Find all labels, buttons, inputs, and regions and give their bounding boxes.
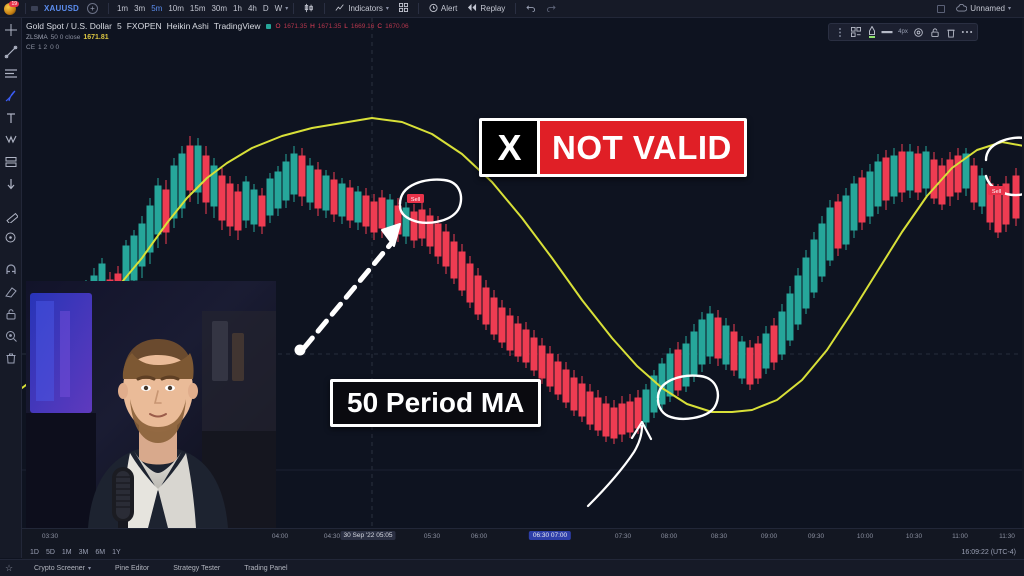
tab-strategy-tester[interactable]: Strategy Tester <box>161 565 232 572</box>
legend-indicator-zlsma[interactable]: ZLSMA 50 0 close 1671.81 <box>26 34 409 41</box>
range-6m[interactable]: 6M <box>95 549 105 556</box>
timeframe-3m[interactable]: 3m <box>131 4 148 13</box>
favorite-star-icon[interactable]: ☆ <box>5 563 13 574</box>
tradingview-app: 19 XAUUSD + 1m 3m 5m 10m 15m 30m 1h 4h D… <box>0 0 1024 576</box>
grid-templates-icon <box>399 3 408 14</box>
divider <box>108 3 109 14</box>
templates-button[interactable] <box>394 3 413 14</box>
time-tick: 04:00 <box>272 533 288 540</box>
bottom-panel-tabs: Crypto Screener ▾ Pine Editor Strategy T… <box>0 559 1024 576</box>
dashed-arrow-line <box>304 240 394 348</box>
topbar-right-group: Unnamed ▾ <box>937 4 1024 14</box>
time-tick-selected-range[interactable]: 06:30 07:00 <box>529 531 571 540</box>
trash-icon[interactable] <box>3 350 19 366</box>
legend-exchange: FXOPEN <box>127 21 162 31</box>
ohlc-low-value: 1669.16 <box>351 23 375 30</box>
legend-indicator-ce[interactable]: CE 1 2 0 0 <box>26 44 409 51</box>
svg-text:Sell: Sell <box>992 189 1001 195</box>
delete-trash-icon[interactable] <box>943 25 958 40</box>
time-tick: 09:00 <box>761 533 777 540</box>
time-tick: 05:30 <box>424 533 440 540</box>
legend-source: TradingView <box>214 21 261 31</box>
timeframe-4h[interactable]: 4h <box>245 4 260 13</box>
legend-main-row: Gold Spot / U.S. Dollar 5 FXOPEN Heikin … <box>26 21 409 31</box>
not-valid-banner: X NOT VALID <box>479 118 747 177</box>
range-1m[interactable]: 1M <box>62 549 72 556</box>
replay-label: Replay <box>480 4 505 13</box>
time-tick: 10:30 <box>906 533 922 540</box>
drawing-tools-rail <box>0 18 22 558</box>
indicator-params: 50 0 close <box>51 34 81 41</box>
timeframe-1m[interactable]: 1m <box>114 4 131 13</box>
ma-label-banner: 50 Period MA <box>330 379 541 427</box>
drag-handle-icon[interactable] <box>832 25 847 40</box>
legend-candle-type: Heikin Ashi <box>167 21 209 31</box>
chart-clock[interactable]: 16:09:22 (UTC-4) <box>962 549 1024 556</box>
opacity-label[interactable]: 4px <box>896 25 910 40</box>
range-buttons-row: 1D 5D 1M 3M 6M 1Y 16:09:22 (UTC-4) <box>22 545 1024 559</box>
app-logo[interactable]: 19 <box>0 0 20 18</box>
timeframe-10m[interactable]: 10m <box>165 4 187 13</box>
tab-label: Trading Panel <box>244 565 287 572</box>
chart-type-button[interactable] <box>299 3 319 15</box>
time-tick: 04:30 <box>324 533 340 540</box>
settings-gear-icon[interactable] <box>911 25 926 40</box>
tab-label: Pine Editor <box>115 565 149 572</box>
arrow-down-icon[interactable] <box>3 176 19 192</box>
redo-button[interactable] <box>541 4 561 14</box>
market-status-indicator <box>266 24 271 29</box>
measure-ruler-icon[interactable] <box>3 208 19 224</box>
layout-checkbox[interactable] <box>937 5 945 13</box>
indicator-params: 1 2 <box>38 44 47 51</box>
time-tick: 09:30 <box>808 533 824 540</box>
indicators-label: Indicators <box>348 4 383 13</box>
dashed-arrow-tail-dot <box>295 345 306 356</box>
timeframe-w[interactable]: W <box>272 4 286 13</box>
time-tick-date-boxed: 30 Sep '22 05:05 <box>341 531 396 540</box>
divider <box>418 3 419 14</box>
symbol-search[interactable]: XAUUSD <box>41 4 82 13</box>
legend-interval[interactable]: 5 <box>117 21 122 31</box>
timeframe-30m[interactable]: 30m <box>208 4 230 13</box>
divider <box>25 3 26 14</box>
indicator-name: CE <box>26 44 35 51</box>
not-valid-text: NOT VALID <box>540 121 744 174</box>
alert-label: Alert <box>441 4 457 13</box>
tab-crypto-screener[interactable]: Crypto Screener ▾ <box>22 565 103 572</box>
ohlc-open-key: O <box>276 23 281 30</box>
eraser-icon[interactable] <box>3 284 19 300</box>
time-tick: 03:30 <box>42 533 58 540</box>
add-symbol-button[interactable]: + <box>87 3 98 14</box>
handdrawn-annotations <box>295 138 1024 506</box>
time-tick: 06:00 <box>471 533 487 540</box>
ohlc-close-value: 1670.06 <box>385 23 409 30</box>
range-1d[interactable]: 1D <box>30 549 39 556</box>
pen-color-icon[interactable] <box>864 25 879 40</box>
legend-ohlc: O 1671.35 H 1671.35 L 1669.16 C 1670.06 <box>276 23 409 30</box>
alert-button[interactable]: Alert <box>424 3 462 14</box>
ohlc-high-value: 1671.35 <box>318 23 342 30</box>
cursor-crosshair-icon[interactable] <box>3 22 19 38</box>
notification-badge[interactable]: 19 <box>9 1 19 7</box>
time-tick: 08:00 <box>661 533 677 540</box>
save-layout-button[interactable]: Unnamed ▾ <box>951 4 1016 14</box>
divider <box>324 3 325 14</box>
presenter-webcam-overlay <box>26 281 276 528</box>
undo-button[interactable] <box>521 4 541 14</box>
time-axis[interactable]: 03:30 04:00 04:30 30 Sep '22 05:05 05:30… <box>22 528 1024 545</box>
indicators-icon <box>335 3 345 15</box>
indicators-button[interactable]: Indicators ▾ <box>330 3 394 15</box>
timeframe-chevron-down-icon[interactable]: ▾ <box>285 5 288 12</box>
indicators-chevron-down-icon[interactable]: ▾ <box>386 5 389 12</box>
replay-icon <box>467 3 477 14</box>
indicator-value: 1671.81 <box>83 34 108 41</box>
tab-pine-editor[interactable]: Pine Editor <box>103 565 161 572</box>
chart-legend: Gold Spot / U.S. Dollar 5 FXOPEN Heikin … <box>26 21 409 51</box>
tab-label: Strategy Tester <box>173 565 220 572</box>
replay-button[interactable]: Replay <box>462 3 510 14</box>
unlock-icon[interactable] <box>927 25 942 40</box>
range-3m[interactable]: 3M <box>79 549 89 556</box>
more-dots-icon[interactable] <box>959 25 974 40</box>
pitchfork-icon[interactable] <box>3 88 19 104</box>
range-5d[interactable]: 5D <box>46 549 55 556</box>
magnet-icon[interactable] <box>3 262 19 278</box>
undo-arrow-icon <box>526 4 536 14</box>
ohlc-open-value: 1671.35 <box>284 23 308 30</box>
candles-icon <box>304 3 314 15</box>
zoom-in-icon[interactable] <box>3 230 19 246</box>
horizontal-lines-icon[interactable] <box>3 66 19 82</box>
webcam-frame <box>26 281 276 528</box>
ohlc-low-key: L <box>344 23 348 30</box>
timeframe-1h[interactable]: 1h <box>230 4 245 13</box>
ohlc-close-key: C <box>377 23 382 30</box>
range-1y[interactable]: 1Y <box>112 549 121 556</box>
layout-name[interactable]: Unnamed <box>970 4 1005 13</box>
redo-arrow-icon <box>546 4 556 14</box>
divider <box>293 3 294 14</box>
time-tick: 11:30 <box>999 533 1015 540</box>
indicator-values: 0 0 <box>50 44 59 51</box>
time-tick: 07:30 <box>615 533 631 540</box>
timeframe-15m[interactable]: 15m <box>187 4 209 13</box>
timeframe-5m[interactable]: 5m <box>148 4 165 13</box>
hide-eye-icon[interactable] <box>3 328 19 344</box>
templates-icon[interactable] <box>848 25 863 40</box>
line-width-icon[interactable] <box>880 25 895 40</box>
trend-line-icon[interactable] <box>3 44 19 60</box>
lock-icon[interactable] <box>3 306 19 322</box>
floating-drawing-toolbar: 4px <box>828 23 978 41</box>
not-valid-x-mark: X <box>482 121 540 174</box>
layout-chevron-down-icon[interactable]: ▾ <box>1008 5 1011 12</box>
ohlc-high-key: H <box>310 23 315 30</box>
tab-label: Crypto Screener <box>34 565 85 572</box>
shapes-icon[interactable] <box>3 154 19 170</box>
top-toolbar: 19 XAUUSD + 1m 3m 5m 10m 15m 30m 1h 4h D… <box>0 0 1024 18</box>
tab-trading-panel[interactable]: Trading Panel <box>232 565 299 572</box>
fib-pattern-icon[interactable] <box>3 132 19 148</box>
timeframe-d[interactable]: D <box>260 4 272 13</box>
chevron-down-icon[interactable]: ▾ <box>88 565 91 572</box>
time-tick: 11:00 <box>952 533 968 540</box>
time-tick: 10:00 <box>857 533 873 540</box>
alert-clock-icon <box>429 3 438 14</box>
symbol-flag-icon <box>31 6 38 11</box>
time-tick: 08:30 <box>711 533 727 540</box>
text-tool-icon[interactable] <box>3 110 19 126</box>
cloud-save-icon <box>956 4 967 14</box>
indicator-name: ZLSMA <box>26 34 48 41</box>
svg-text:Sell: Sell <box>411 197 420 203</box>
legend-instrument-title[interactable]: Gold Spot / U.S. Dollar <box>26 21 112 31</box>
divider <box>515 3 516 14</box>
